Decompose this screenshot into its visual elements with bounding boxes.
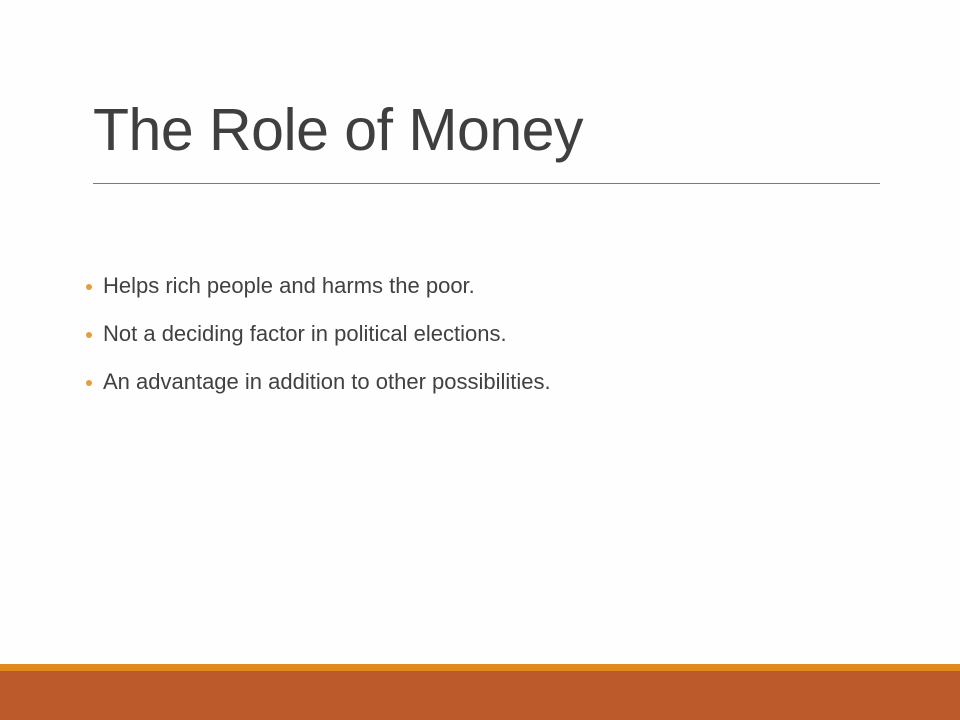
- bullet-dot-icon: [86, 380, 92, 386]
- presentation-slide: The Role of Money Helps rich people and …: [0, 0, 960, 720]
- page-title: The Role of Money: [93, 100, 880, 162]
- footer-band: [0, 671, 960, 720]
- list-item-label: An advantage in addition to other possib…: [103, 371, 551, 393]
- title-divider-rule: [93, 183, 880, 184]
- title-block: The Role of Money: [93, 100, 880, 162]
- bullet-list: Helps rich people and harms the poor. No…: [86, 275, 886, 419]
- bullet-dot-icon: [86, 284, 92, 290]
- list-item-label: Not a deciding factor in political elect…: [103, 323, 507, 345]
- bullet-dot-icon: [86, 332, 92, 338]
- list-item: Helps rich people and harms the poor.: [86, 275, 886, 323]
- list-item-label: Helps rich people and harms the poor.: [103, 275, 475, 297]
- footer-accent-stripe: [0, 664, 960, 671]
- list-item: Not a deciding factor in political elect…: [86, 323, 886, 371]
- list-item: An advantage in addition to other possib…: [86, 371, 886, 419]
